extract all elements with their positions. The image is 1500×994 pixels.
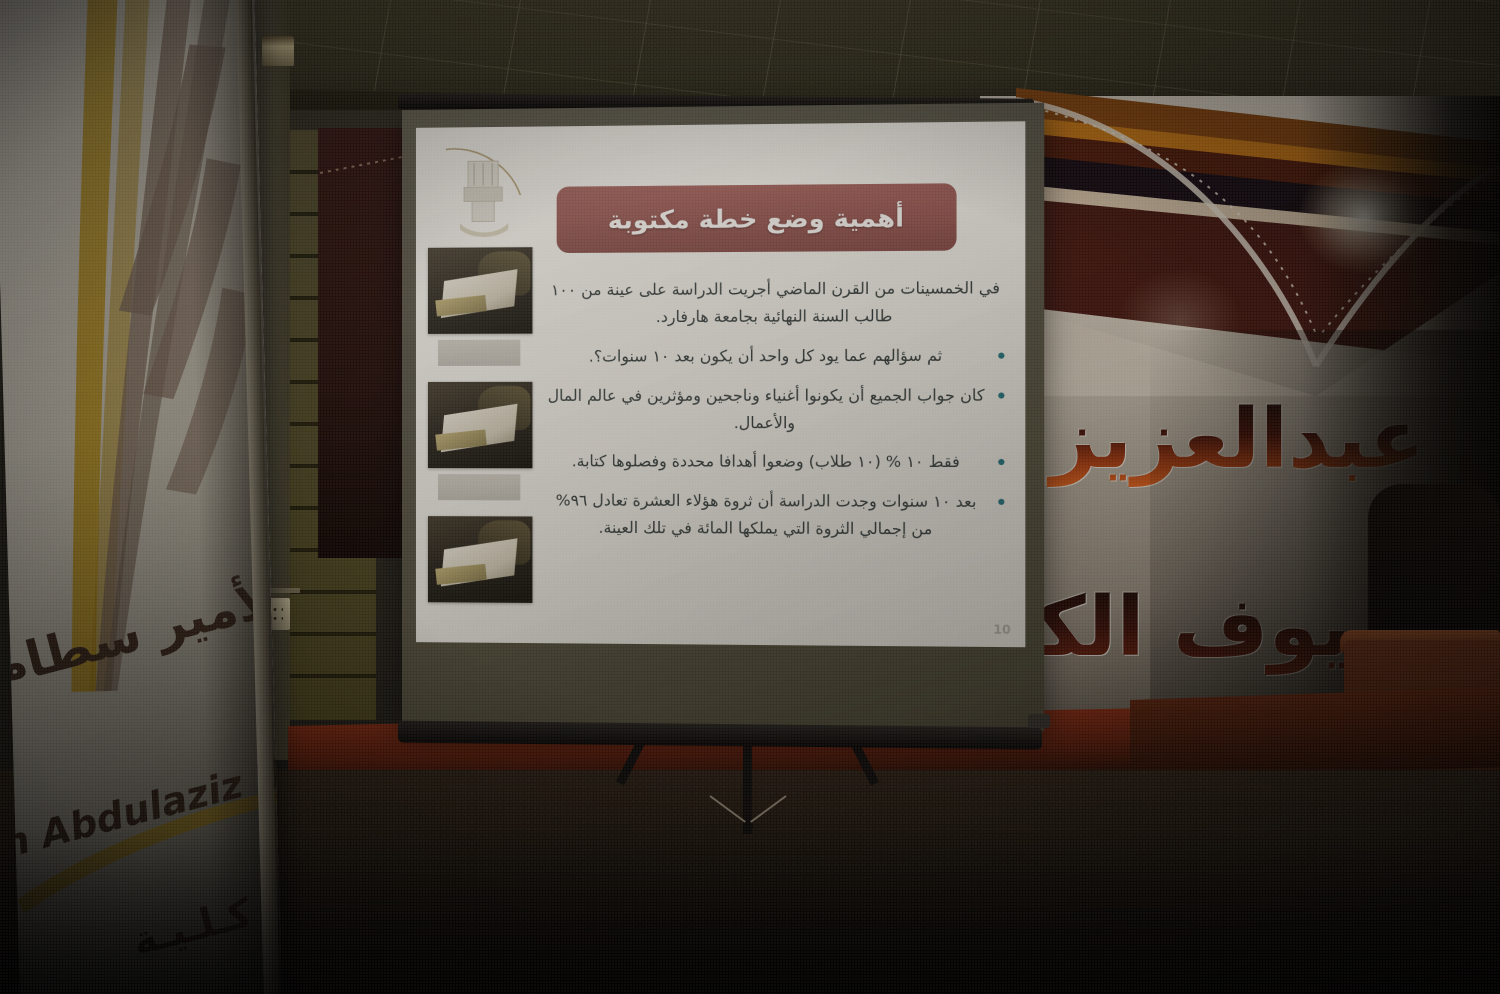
strip-separator [438, 474, 520, 500]
foreground-shadow [0, 830, 1500, 994]
list-item [428, 516, 532, 603]
list-item [428, 382, 532, 468]
slide-intro-paragraph: في الخمسينات من القرن الماضي أجريت الدرا… [545, 275, 1007, 332]
screen-pull-knob[interactable] [1028, 714, 1050, 728]
slide-bullet-list: ثم سؤالهم عما يود كل واحد أن يكون بعد ١٠… [545, 343, 1007, 543]
list-item: فقط ١٠ % (١٠ طلاب) وضعوا أهدافا محددة وف… [545, 448, 1007, 476]
list-item: ثم سؤالهم عما يود كل واحد أن يكون بعد ١٠… [545, 343, 1007, 371]
screen-surface: أهمية وضع خطة مكتوبة في الخمسينات من الق… [402, 103, 1044, 732]
slide-page-number: 10 [993, 622, 1010, 636]
strip-separator [438, 340, 520, 366]
slide-photo-strip [424, 135, 532, 637]
slide-title-banner: أهمية وضع خطة مكتوبة [557, 183, 957, 253]
projection-screen: أهمية وضع خطة مكتوبة في الخمسينات من الق… [398, 96, 1034, 746]
slide-title-text: أهمية وضع خطة مكتوبة [608, 203, 904, 235]
list-item: بعد ١٠ سنوات وجدت الدراسة أن ثروة هؤلاء … [545, 487, 1007, 543]
presentation-slide: أهمية وضع خطة مكتوبة في الخمسينات من الق… [416, 121, 1025, 647]
list-item: كان جواب الجميع أن يكونوا أغنياء وناجحين… [545, 382, 1007, 437]
tower-lamp-icon [442, 143, 526, 242]
slide-body: في الخمسينات من القرن الماضي أجريت الدرا… [545, 275, 1007, 555]
lecture-hall-photo: ام بن عبدالعزيز با يوف الكـ [0, 0, 1500, 994]
list-item [428, 247, 532, 334]
ceiling-lamp [262, 36, 294, 66]
orange-wall-band-right [1130, 687, 1500, 780]
